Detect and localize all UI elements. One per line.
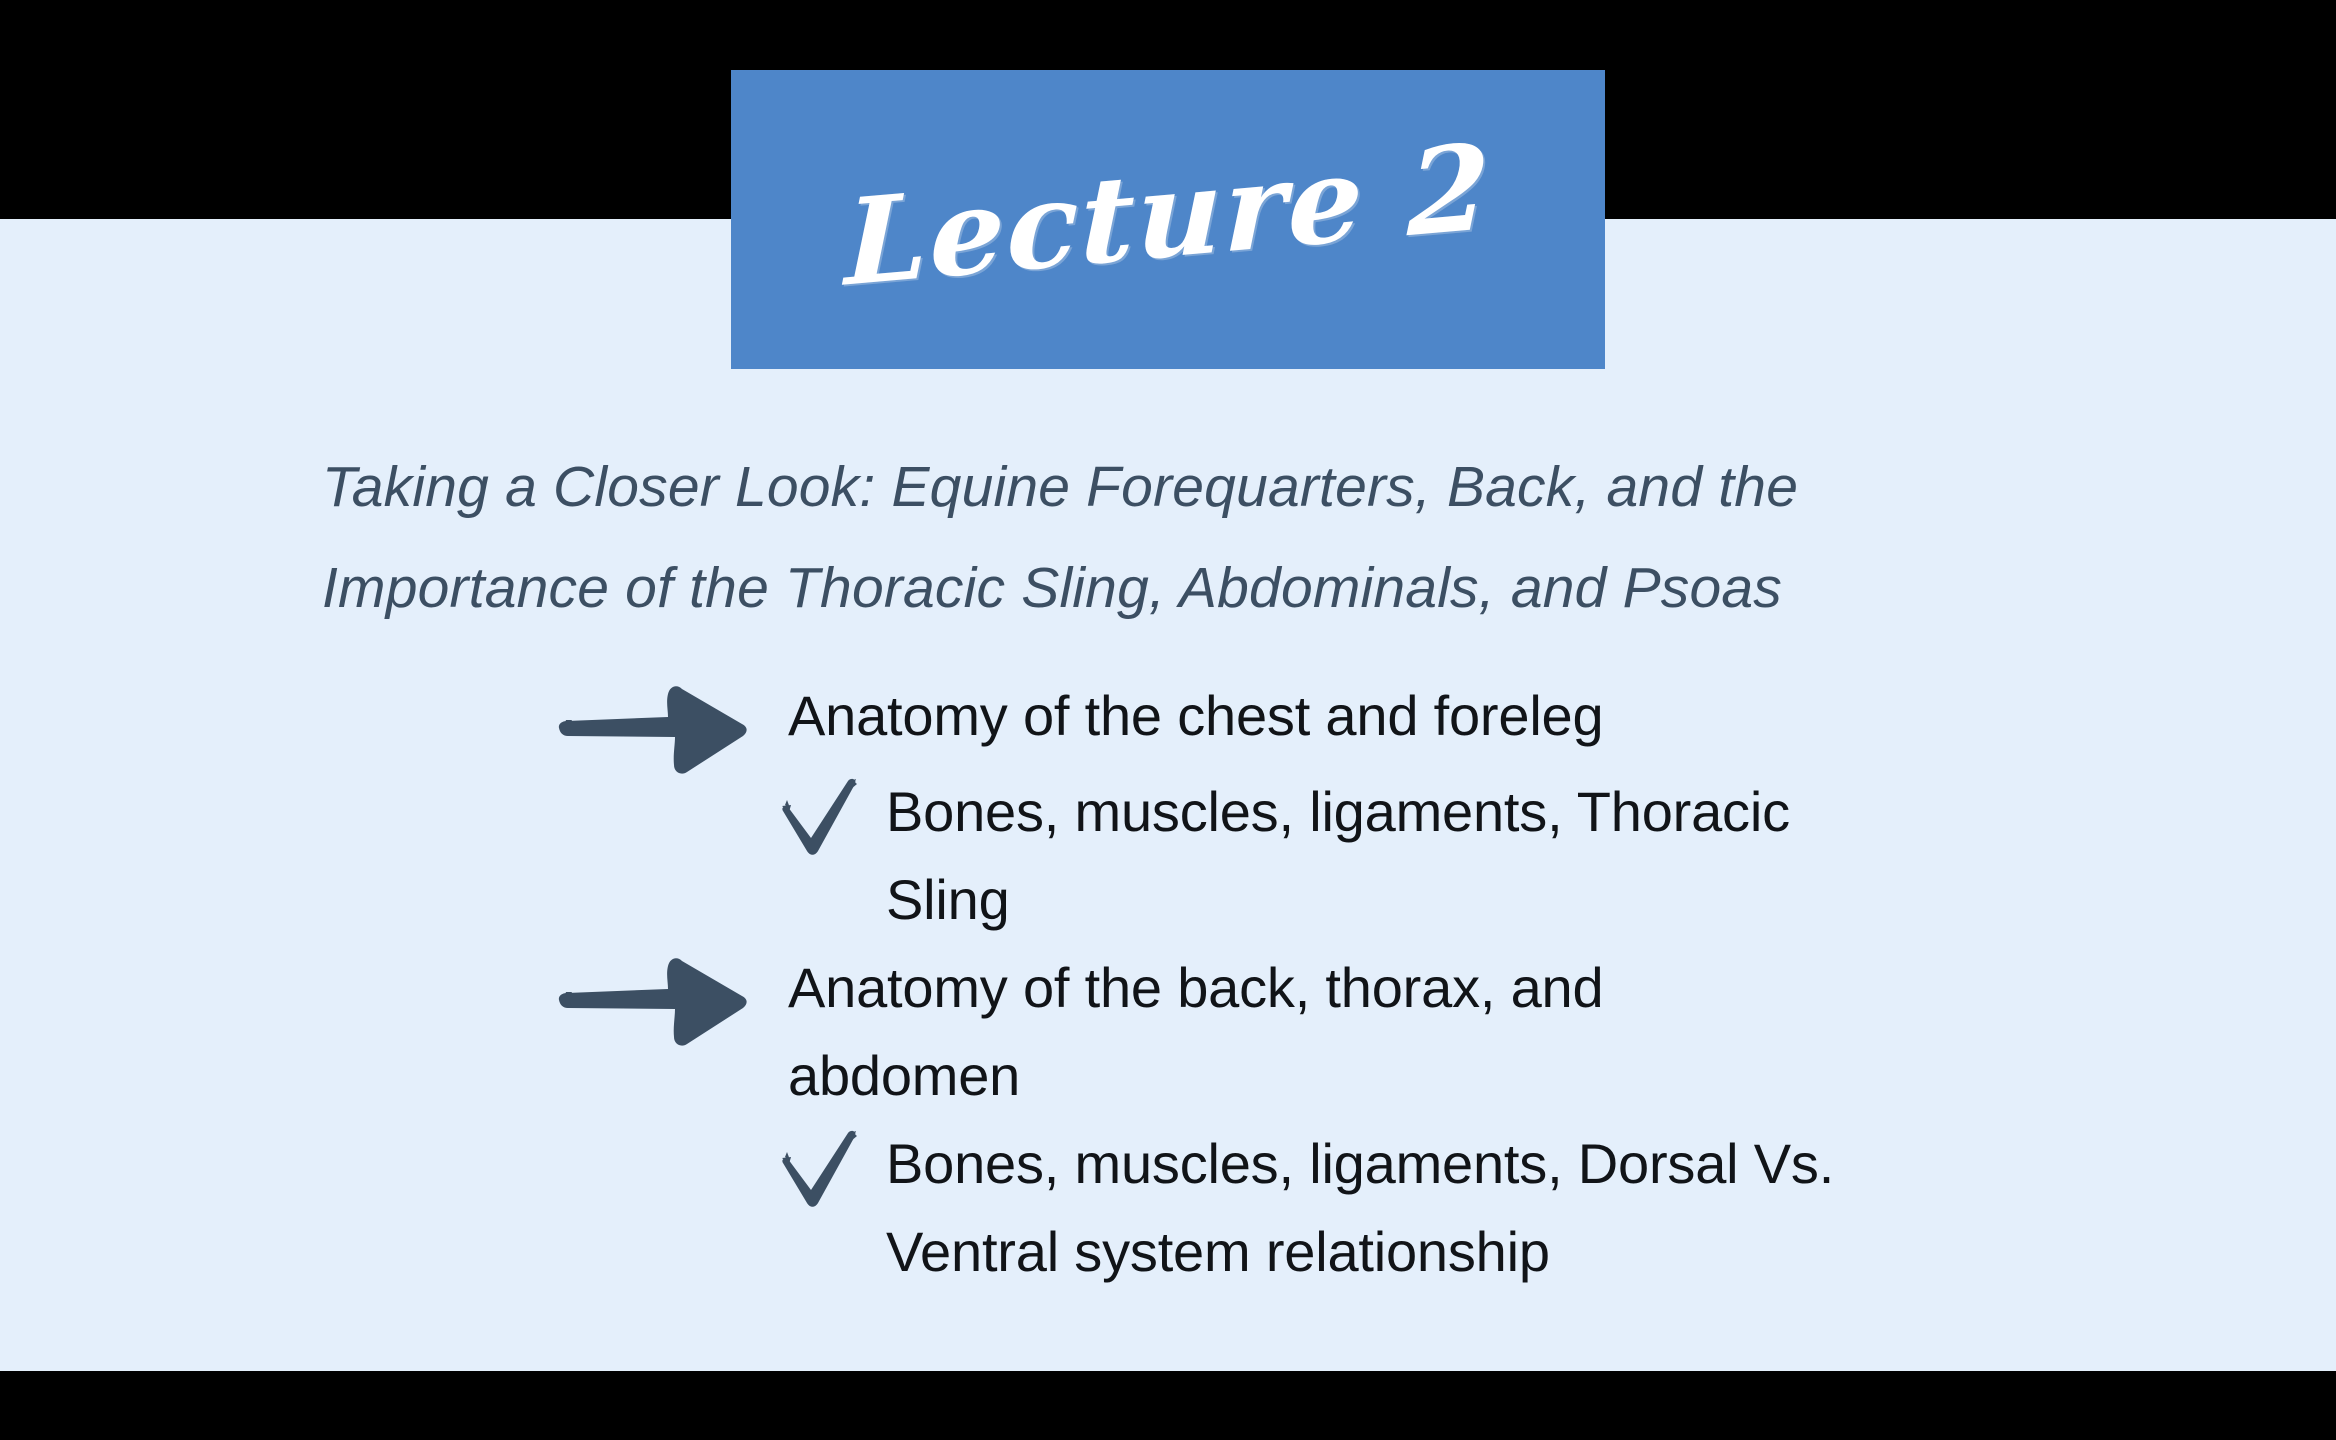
list-item-label: Anatomy of the chest and foreleg — [788, 672, 1708, 760]
sub-list-item-label: Bones, muscles, ligaments, Dorsal Vs. Ve… — [886, 1120, 1846, 1296]
title-banner: Lecture 2 — [731, 70, 1605, 369]
page-title: Lecture 2 — [844, 127, 1492, 312]
list-item-label: Anatomy of the back, thorax, and abdomen — [788, 944, 1708, 1120]
checkmark-hand-drawn-icon — [778, 778, 866, 862]
slide-canvas: Lecture 2 Taking a Closer Look: Equine F… — [0, 0, 2336, 1440]
letterbox-bar-bottom — [0, 1371, 2336, 1440]
slide-subtitle: Taking a Closer Look: Equine Forequarter… — [322, 437, 2082, 639]
bullet-list: Anatomy of the chest and foreleg Bones, … — [556, 672, 2056, 1296]
arrow-right-brush-icon — [556, 680, 756, 776]
sub-list-item: Bones, muscles, ligaments, Thoracic Slin… — [556, 768, 2056, 944]
checkmark-hand-drawn-icon — [778, 1130, 866, 1214]
list-item: Anatomy of the chest and foreleg — [556, 672, 2056, 768]
list-item: Anatomy of the back, thorax, and abdomen — [556, 944, 2056, 1120]
arrow-right-brush-icon — [556, 952, 756, 1048]
sub-list-item-label: Bones, muscles, ligaments, Thoracic Slin… — [886, 768, 1846, 944]
sub-list-item: Bones, muscles, ligaments, Dorsal Vs. Ve… — [556, 1120, 2056, 1296]
